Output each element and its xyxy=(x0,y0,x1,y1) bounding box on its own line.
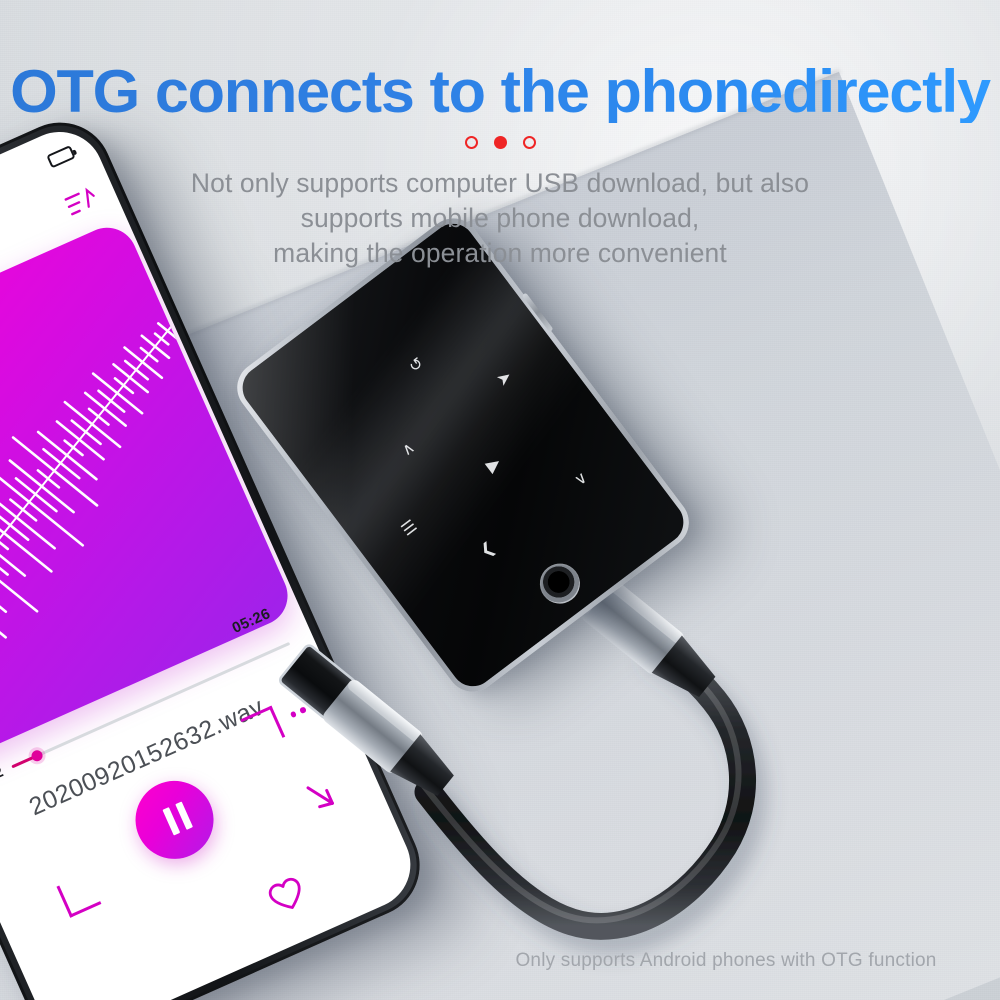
product-banner: 05:26 00:12 20200920152632.wav xyxy=(0,0,1000,1000)
previous-icon[interactable]: ❮ xyxy=(478,540,498,561)
dot-left-icon xyxy=(465,136,478,149)
trim-marker-left-icon[interactable] xyxy=(56,873,101,918)
dot-right-icon xyxy=(523,136,536,149)
download-arrow-icon[interactable] xyxy=(299,774,346,823)
play-pause-button[interactable] xyxy=(123,768,226,871)
dot-center-icon xyxy=(494,136,507,149)
down-icon[interactable]: ∨ xyxy=(572,470,591,490)
subtitle-line-3: making the operation more convenient xyxy=(10,236,990,271)
current-time: 00:12 xyxy=(0,763,6,795)
subtitle-line-1: Not only supports computer USB download,… xyxy=(10,166,990,201)
decorative-dots xyxy=(0,136,1000,149)
page-title: OTG connects to the phonedirectly xyxy=(0,60,1000,123)
footnote-text: Only supports Android phones with OTG fu… xyxy=(515,950,936,972)
footnote: Only supports Android phones with OTG fu… xyxy=(0,950,1000,972)
heart-icon[interactable] xyxy=(265,874,309,917)
seek-handle[interactable] xyxy=(30,749,45,764)
subtitle: Not only supports computer USB download,… xyxy=(10,166,990,271)
subtitle-line-2: supports mobile phone download, xyxy=(10,201,990,236)
headphone-jack-icon xyxy=(532,556,588,612)
